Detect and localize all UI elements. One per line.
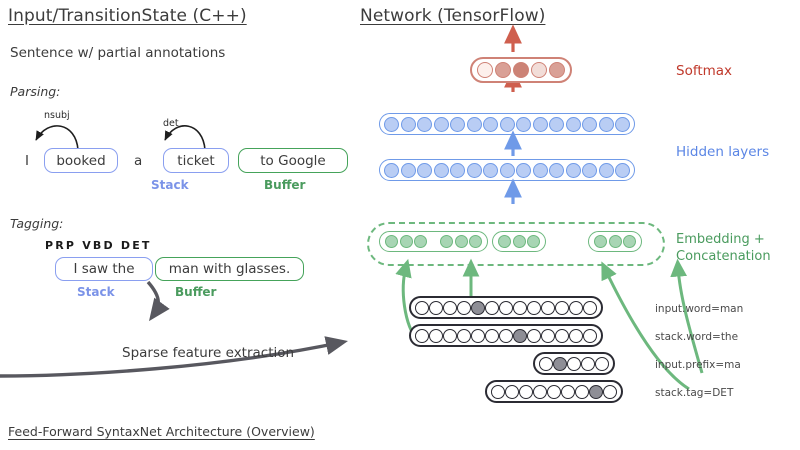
hidden-neuron: [566, 117, 581, 132]
embedding-neuron: [440, 235, 453, 248]
embedding-neuron: [498, 235, 511, 248]
feature-cell: [519, 385, 533, 399]
feature-cell: [583, 329, 597, 343]
feature-label-3: stack.tag=DET: [655, 387, 733, 399]
hidden-neuron: [434, 117, 449, 132]
feature-cell: [555, 301, 569, 315]
hidden-neuron: [516, 117, 531, 132]
feature-cell: [533, 385, 547, 399]
hidden-neuron: [549, 117, 564, 132]
feature-cell: [541, 301, 555, 315]
parse-stack-label: Stack: [151, 178, 189, 192]
softmax-layer: [470, 57, 572, 83]
embedding-segment: [385, 235, 427, 248]
hidden-neuron: [566, 163, 581, 178]
feature-cell: [539, 357, 553, 371]
feature-cell: [491, 385, 505, 399]
embedding-group-1: [379, 231, 488, 252]
feature-cell: [505, 385, 519, 399]
parse-token-booked: booked: [56, 153, 105, 169]
hidden-neuron: [450, 163, 465, 178]
hidden-neuron: [582, 163, 597, 178]
hidden-neuron: [549, 163, 564, 178]
feature-cell: [443, 329, 457, 343]
arrow-embed-4: [678, 267, 702, 373]
embedding-segment: [498, 235, 540, 248]
hidden-neuron: [384, 163, 399, 178]
feature-cell: [595, 357, 609, 371]
feature-vector-2: [533, 352, 615, 375]
hidden-neuron: [599, 117, 614, 132]
hidden-neuron: [417, 117, 432, 132]
embedding-neuron: [385, 235, 398, 248]
hidden-layer-arrows: [505, 132, 535, 222]
parse-token-a: a: [134, 153, 142, 169]
figure-caption: Feed-Forward SyntaxNet Architecture (Ove…: [8, 424, 315, 439]
parse-token-ticket: ticket: [177, 153, 214, 169]
hidden-neuron: [615, 163, 630, 178]
embedding-group-2: [492, 231, 546, 252]
embedding-neuron: [414, 235, 427, 248]
embedding-group-3: [588, 231, 642, 252]
hidden-neuron: [483, 163, 498, 178]
feature-label-0: input.word=man: [655, 303, 743, 315]
hidden-neuron: [401, 117, 416, 132]
embedding-neuron: [469, 235, 482, 248]
feature-cell-active: [513, 329, 527, 343]
parse-buffer-tokens: to Google: [260, 153, 325, 169]
feature-cell: [527, 329, 541, 343]
feature-cell: [499, 329, 513, 343]
feature-vector-3: [485, 380, 623, 403]
embedding-label-line2: Concatenation: [676, 248, 771, 265]
softmax-neuron: [531, 62, 547, 78]
pos-tag-sequence: PRP VBD DET: [45, 239, 152, 252]
feature-cell: [429, 301, 443, 315]
feature-cell: [603, 385, 617, 399]
softmax-label: Softmax: [676, 63, 732, 79]
hidden-neuron: [417, 163, 432, 178]
feature-cell: [583, 301, 597, 315]
parse-token-I: I: [25, 153, 29, 169]
hidden-neuron: [450, 117, 465, 132]
parse-token-booked-box: booked: [44, 148, 118, 173]
arc-det-path: [165, 126, 205, 150]
left-panel-subtitle: Sentence w/ partial annotations: [10, 45, 225, 61]
feature-cell: [541, 329, 555, 343]
embedding-neuron: [400, 235, 413, 248]
embedding-label: Embedding + Concatenation: [676, 231, 771, 265]
feature-label-1: stack.word=the: [655, 331, 738, 343]
hidden-layers-label: Hidden layers: [676, 144, 769, 160]
hidden-neuron: [582, 117, 597, 132]
parsing-section-label: Parsing:: [10, 84, 60, 99]
tagging-buffer-box: man with glasses.: [155, 257, 304, 281]
feature-cell: [415, 329, 429, 343]
hidden-neuron: [533, 117, 548, 132]
feature-cell: [513, 301, 527, 315]
arc-nsubj-path: [36, 126, 78, 150]
hidden-neuron: [401, 163, 416, 178]
feature-cell: [415, 301, 429, 315]
hidden-neuron: [615, 117, 630, 132]
softmax-neuron: [477, 62, 493, 78]
feature-cell: [527, 301, 541, 315]
arc-label-nsubj: nsubj: [44, 110, 70, 121]
hidden-neuron: [467, 163, 482, 178]
softmax-neuron: [513, 62, 529, 78]
feature-cell: [569, 301, 583, 315]
arrow-embed-3: [605, 269, 689, 389]
feature-cell: [569, 329, 583, 343]
embedding-segment: [440, 235, 482, 248]
arrow-to-sparse: [148, 282, 158, 317]
feature-cell: [575, 385, 589, 399]
embedding-neuron: [455, 235, 468, 248]
feature-label-2: input.prefix=ma: [655, 359, 741, 371]
feature-cell-active: [471, 301, 485, 315]
tagging-section-label: Tagging:: [10, 216, 63, 231]
hidden-neuron: [599, 163, 614, 178]
feature-vector-0: [409, 296, 603, 319]
embedding-neuron: [609, 235, 622, 248]
left-panel-title: Input/TransitionState (C++): [8, 6, 247, 26]
embedding-neuron: [623, 235, 636, 248]
hidden-neuron: [467, 117, 482, 132]
parse-buffer-box: to Google: [238, 148, 348, 173]
tagging-stack-tokens: I saw the: [73, 261, 134, 277]
feature-cell: [485, 301, 499, 315]
hidden-neuron: [500, 117, 515, 132]
dependency-arcs: [0, 100, 360, 155]
embedding-neuron: [513, 235, 526, 248]
feature-cell: [581, 357, 595, 371]
softmax-neuron: [495, 62, 511, 78]
feature-cell-active: [589, 385, 603, 399]
parse-buffer-label: Buffer: [264, 178, 305, 192]
syntaxnet-architecture-diagram: { "left": { "title": "Input/TransitionSt…: [0, 0, 800, 450]
feature-cell: [561, 385, 575, 399]
hidden-neuron: [483, 117, 498, 132]
feature-cell: [443, 301, 457, 315]
arc-label-det: det: [163, 118, 179, 129]
feature-cell: [429, 329, 443, 343]
feature-cell: [567, 357, 581, 371]
feature-cell: [555, 329, 569, 343]
sparse-feature-extraction-label: Sparse feature extraction: [122, 345, 294, 361]
parse-token-ticket-box: ticket: [163, 148, 229, 173]
feature-cell: [457, 301, 471, 315]
feature-cell: [547, 385, 561, 399]
tagging-buffer-tokens: man with glasses.: [169, 261, 291, 277]
feature-cell: [471, 329, 485, 343]
embedding-segment: [594, 235, 636, 248]
softmax-neuron: [549, 62, 565, 78]
feature-vector-1: [409, 324, 603, 347]
hidden-neuron: [434, 163, 449, 178]
feature-cell: [457, 329, 471, 343]
hidden-neuron: [384, 117, 399, 132]
feature-cell: [485, 329, 499, 343]
tagging-stack-box: I saw the: [55, 257, 153, 281]
embedding-neuron: [527, 235, 540, 248]
feature-cell-active: [553, 357, 567, 371]
right-panel-title: Network (TensorFlow): [360, 6, 545, 26]
embedding-label-line1: Embedding +: [676, 231, 771, 248]
embedding-neuron: [594, 235, 607, 248]
feature-cell: [499, 301, 513, 315]
